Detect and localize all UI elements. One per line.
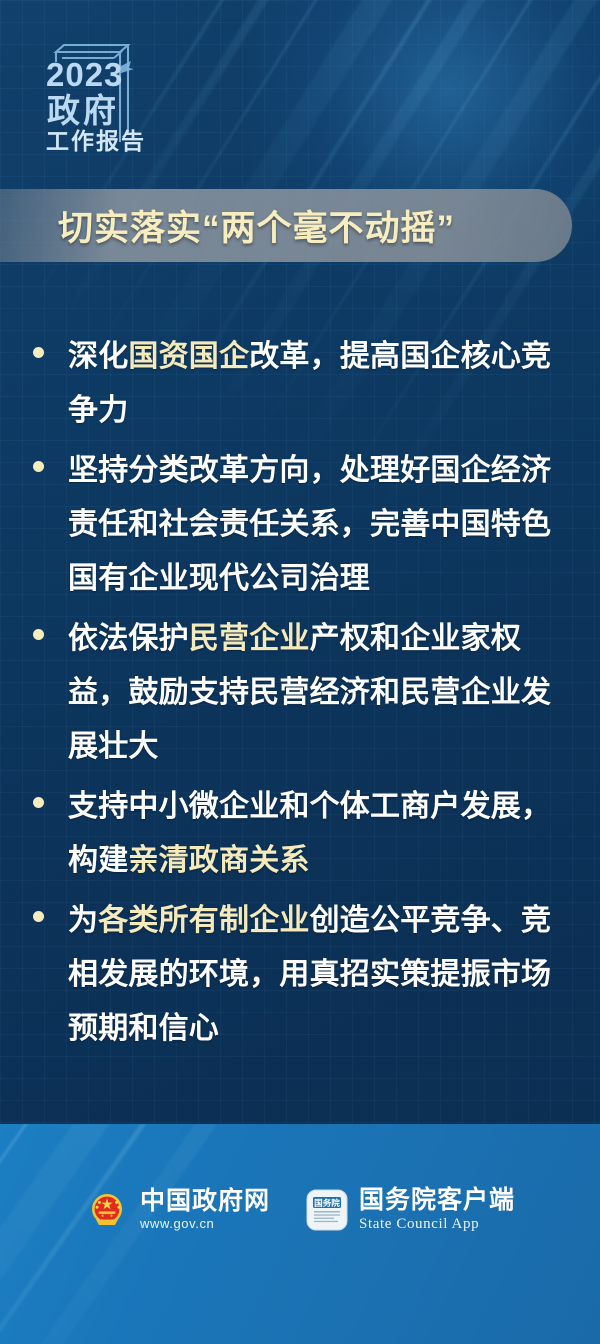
bullet-plain-text: 依法保护 xyxy=(68,622,189,655)
logo-year: 2023 xyxy=(46,56,123,93)
bullet-text: 坚持分类改革方向，处理好国企经济责任和社会责任关系，完善中国特色国有企业现代公司… xyxy=(68,444,576,606)
bullet-item: 依法保护民营企业产权和企业家权益，鼓励支持民营经济和民营企业发展壮大 xyxy=(0,612,600,774)
bullet-dot-icon xyxy=(33,461,44,472)
brand-gov-cn-name: 中国政府网 xyxy=(140,1187,270,1215)
bullet-text: 支持中小微企业和个体工商户发展，构建亲清政商关系 xyxy=(68,780,576,888)
bullet-dot-icon xyxy=(33,911,44,922)
app-icon-label: 国务院 xyxy=(314,1197,340,1208)
footer-brands: 中国政府网 www.gov.cn 国务院 xyxy=(0,1186,600,1235)
bullet-plain-text: 坚持分类改革方向，处理好国企经济责任和社会责任关系，完善中国特色国有企业现代公司… xyxy=(68,454,551,595)
bullet-dot-icon xyxy=(33,347,44,358)
bullet-highlight-text: 各类所有制企业 xyxy=(98,904,309,937)
brand-gov-cn-url: www.gov.cn xyxy=(140,1216,270,1233)
bullet-item: 深化国资国企改革，提高国企核心竞争力 xyxy=(0,330,600,438)
bullet-plain-text: 深化 xyxy=(68,340,128,373)
bullet-text: 为各类所有制企业创造公平竞争、竞相发展的环境，用真招实策提振市场预期和信心 xyxy=(68,894,576,1056)
bullet-dot-icon xyxy=(33,797,44,808)
bullet-list: 深化国资国企改革，提高国企核心竞争力坚持分类改革方向，处理好国企经济责任和社会责… xyxy=(0,330,600,1062)
footer: 中国政府网 www.gov.cn 国务院 xyxy=(0,1124,600,1344)
logo-line2: 政府 xyxy=(47,92,119,129)
bullet-item: 支持中小微企业和个体工商户发展，构建亲清政商关系 xyxy=(0,780,600,888)
page-title: 切实落实“两个毫不动摇” xyxy=(58,200,455,251)
poster-root: 2023 政府 工作报告 切实落实“两个毫不动摇” 深化国资国企改革，提高国企核… xyxy=(0,0,600,1344)
section-title-banner: 切实落实“两个毫不动摇” xyxy=(0,189,572,262)
bullet-highlight-text: 民营企业 xyxy=(189,622,310,655)
brand-state-council-app[interactable]: 国务院 国务院客户端 State Council App xyxy=(306,1186,515,1235)
state-council-app-icon: 国务院 xyxy=(306,1189,348,1231)
brand-state-council-en: State Council App xyxy=(359,1215,515,1235)
bullet-dot-icon xyxy=(33,629,44,640)
logo-line3: 工作报告 xyxy=(46,128,146,152)
bullet-highlight-text: 亲清政商关系 xyxy=(128,844,309,877)
brand-state-council-name: 国务院客户端 xyxy=(359,1186,515,1214)
bullet-item: 为各类所有制企业创造公平竞争、竞相发展的环境，用真招实策提振市场预期和信心 xyxy=(0,894,600,1056)
brand-gov-cn[interactable]: 中国政府网 www.gov.cn xyxy=(85,1187,270,1233)
bullet-highlight-text: 国资国企 xyxy=(128,340,249,373)
bullet-item: 坚持分类改革方向，处理好国企经济责任和社会责任关系，完善中国特色国有企业现代公司… xyxy=(0,444,600,606)
bullet-text: 深化国资国企改革，提高国企核心竞争力 xyxy=(68,330,576,438)
national-emblem-icon xyxy=(85,1188,129,1232)
bullet-text: 依法保护民营企业产权和企业家权益，鼓励支持民营经济和民营企业发展壮大 xyxy=(68,612,576,774)
report-logo: 2023 政府 工作报告 xyxy=(28,34,152,152)
bullet-plain-text: 为 xyxy=(68,904,98,937)
